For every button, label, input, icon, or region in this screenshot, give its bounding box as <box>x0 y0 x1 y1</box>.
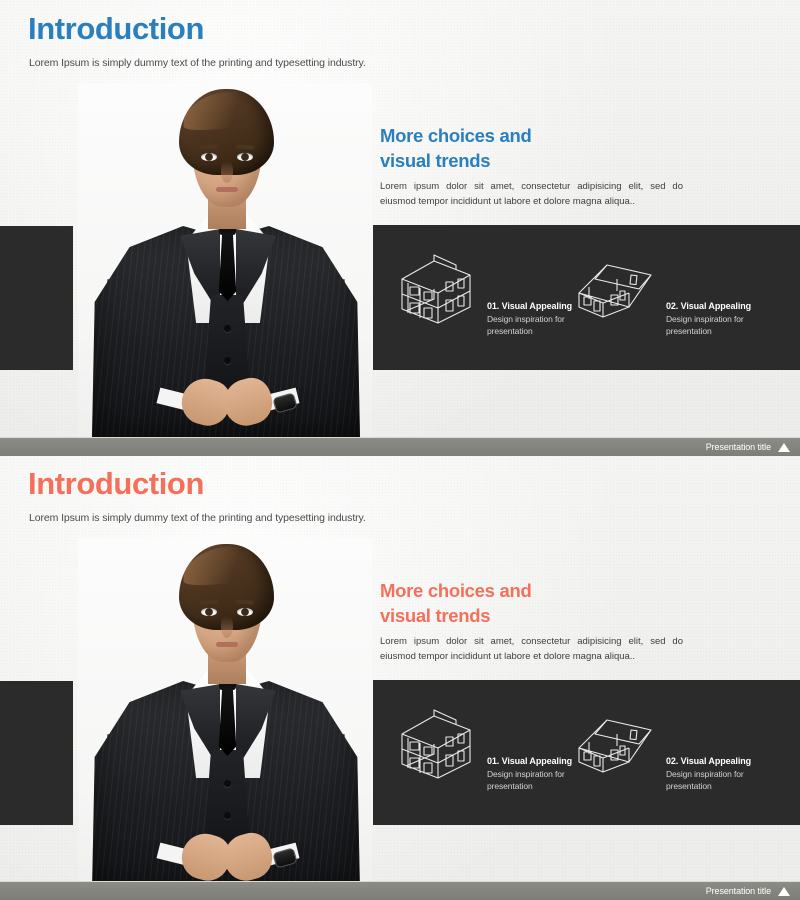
left-accent-block <box>0 681 73 825</box>
feature-item-02[interactable]: 02. Visual Appealing Design inspiration … <box>573 249 751 337</box>
page-subtitle: Lorem Ipsum is simply dummy text of the … <box>29 57 366 69</box>
feature-text-01: 01. Visual Appealing Design inspiration … <box>487 704 572 792</box>
triangle-up-icon[interactable] <box>778 887 790 896</box>
section-heading-line1: More choices and <box>380 580 531 601</box>
portrait-illustration <box>78 83 373 437</box>
feature-text-02: 02. Visual Appealing Design inspiration … <box>666 249 751 337</box>
house-cutaway-icon <box>394 704 478 789</box>
triangle-up-icon[interactable] <box>778 443 790 452</box>
feature-text-01: 01. Visual Appealing Design inspiration … <box>487 249 572 337</box>
house-longroof-icon <box>573 249 657 334</box>
page-subtitle: Lorem Ipsum is simply dummy text of the … <box>29 512 366 524</box>
feature-item-01[interactable]: 01. Visual Appealing Design inspiration … <box>394 704 572 792</box>
businessman-photo <box>78 538 373 892</box>
house-cutaway-icon <box>394 249 478 334</box>
section-heading-line2: visual trends <box>380 605 490 626</box>
portrait-illustration <box>78 538 373 892</box>
page-title: Introduction <box>28 467 204 501</box>
feature-title: 01. Visual Appealing <box>487 756 572 766</box>
footer-label: Presentation title <box>706 886 771 896</box>
section-heading: More choices andvisual trends <box>380 124 690 173</box>
section-body-text: Lorem ipsum dolor sit amet, consectetur … <box>380 179 683 210</box>
feature-item-01[interactable]: 01. Visual Appealing Design inspiration … <box>394 249 572 337</box>
feature-title: 02. Visual Appealing <box>666 756 751 766</box>
feature-title: 02. Visual Appealing <box>666 301 751 311</box>
feature-item-02[interactable]: 02. Visual Appealing Design inspiration … <box>573 704 751 792</box>
slide-2[interactable]: Introduction Lorem Ipsum is simply dummy… <box>0 455 800 892</box>
section-heading-line1: More choices and <box>380 125 531 146</box>
section-heading-line2: visual trends <box>380 150 490 171</box>
feature-description: Design inspiration for presentation <box>487 313 572 337</box>
footer-label: Presentation title <box>706 442 771 452</box>
feature-description: Design inspiration for presentation <box>487 768 572 792</box>
feature-title: 01. Visual Appealing <box>487 301 572 311</box>
slide-deck: Introduction Lorem Ipsum is simply dummy… <box>0 0 800 900</box>
section-heading: More choices andvisual trends <box>380 579 690 628</box>
left-accent-block <box>0 226 73 370</box>
feature-text-02: 02. Visual Appealing Design inspiration … <box>666 704 751 792</box>
slide-1-footer-bar[interactable]: Presentation title <box>0 437 800 456</box>
house-longroof-icon <box>573 704 657 789</box>
feature-panel: 01. Visual Appealing Design inspiration … <box>373 225 800 370</box>
feature-description: Design inspiration for presentation <box>666 313 751 337</box>
feature-description: Design inspiration for presentation <box>666 768 751 792</box>
feature-panel: 01. Visual Appealing Design inspiration … <box>373 680 800 825</box>
businessman-photo <box>78 83 373 437</box>
page-title: Introduction <box>28 12 204 46</box>
slide-2-footer-bar[interactable]: Presentation title <box>0 881 800 900</box>
section-body-text: Lorem ipsum dolor sit amet, consectetur … <box>380 634 683 665</box>
slide-1[interactable]: Introduction Lorem Ipsum is simply dummy… <box>0 0 800 437</box>
